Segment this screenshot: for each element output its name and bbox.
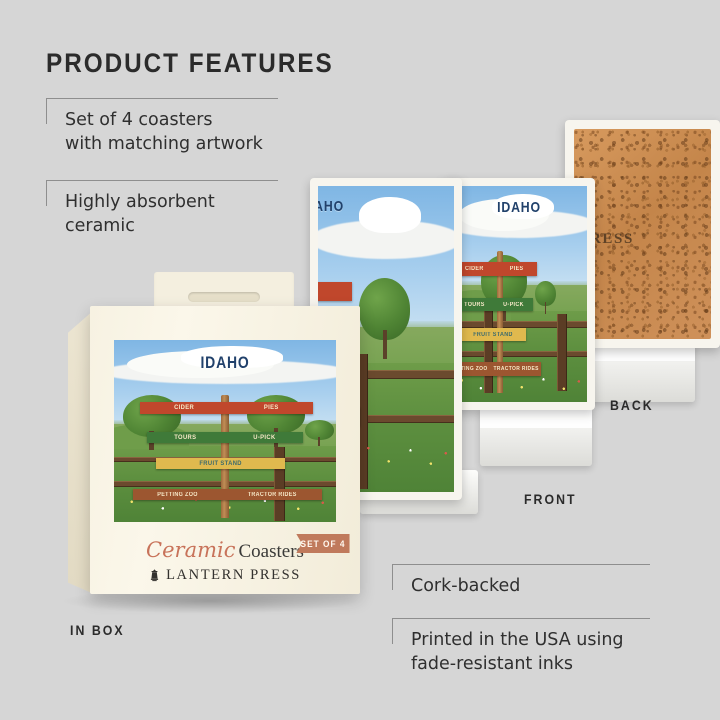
artwork-title: IDAHO bbox=[318, 198, 412, 215]
tree-trunk bbox=[383, 330, 387, 359]
cork-brand-mark: RESS bbox=[590, 231, 634, 248]
sign-label: FRUIT STAND bbox=[473, 332, 513, 338]
sign-label: TRACTOR RIDES bbox=[248, 492, 297, 498]
box-artwork-window: IDAHO CIDER PIES TOURS U-PICK FRUIT STAN bbox=[114, 340, 336, 522]
product-feature-sheet: RESS bbox=[0, 0, 720, 720]
publisher-name: LANTERN PRESS bbox=[166, 567, 301, 584]
sign-label: U-PICK bbox=[253, 434, 275, 441]
sign-label: U-PICK bbox=[503, 302, 524, 308]
feature-text: Set of 4 coasters with matching artwork bbox=[46, 99, 278, 156]
caption-in-box: IN BOX bbox=[70, 622, 125, 638]
sign-label: TRACTOR RIDES bbox=[493, 366, 538, 372]
sign-cider-pies: CIDER PIES bbox=[451, 262, 536, 276]
feature-tick bbox=[392, 618, 393, 644]
brand-roman-word: Coasters bbox=[239, 541, 304, 562]
sign-label: CIDER bbox=[465, 266, 484, 272]
retail-box: IDAHO CIDER PIES TOURS U-PICK FRUIT STAN bbox=[68, 272, 360, 594]
tree-trunk bbox=[318, 437, 320, 446]
sign-petting-tractor: PETTING ZOO TRACTOR RIDES bbox=[133, 489, 322, 501]
tree-trunk-small bbox=[545, 302, 547, 314]
feature-text: Printed in the USA using fade-resistant … bbox=[392, 619, 650, 676]
feature-text: Highly absorbent ceramic bbox=[46, 181, 278, 238]
coaster-front: IDAHO CIDER PIES TOURS U-PICK FRUIT STAN… bbox=[443, 178, 595, 410]
sign-petting-tractor: PETTING ZOO TRACTOR RIDES bbox=[451, 362, 541, 376]
brand-script-word: Ceramic bbox=[146, 538, 238, 562]
sign-tours-upick: TOURS U-PICK bbox=[147, 432, 304, 444]
sign-fruit-stand: FRUIT STAND bbox=[156, 458, 285, 470]
feature-tick bbox=[46, 180, 47, 206]
feature-tick bbox=[392, 564, 393, 590]
feature-text: Cork-backed bbox=[392, 565, 650, 598]
sign-label: TOURS bbox=[175, 434, 197, 441]
artwork-scene: IDAHO CIDER PIES TOURS U-PICK FRUIT STAN… bbox=[451, 186, 587, 402]
artwork-title: IDAHO bbox=[463, 199, 575, 216]
tree-far-right bbox=[305, 420, 334, 445]
sign-label: FRUIT STAND bbox=[199, 460, 242, 467]
sign-fruit-stand: FRUIT STAND bbox=[460, 328, 525, 342]
sign-label: PETTING ZOO bbox=[157, 492, 198, 498]
brand-publisher: LANTERN PRESS bbox=[90, 567, 360, 584]
lantern-icon bbox=[149, 569, 160, 582]
feature-item-cork-backed: Cork-backed bbox=[392, 564, 650, 598]
riser-top-surface-front bbox=[480, 408, 592, 428]
signpost: CIDER PIES TOURS U-PICK FRUIT STAND PETT… bbox=[167, 395, 282, 519]
sign-label: PIES bbox=[510, 266, 524, 272]
hang-slot bbox=[188, 292, 261, 302]
artwork-title: IDAHO bbox=[134, 353, 316, 373]
artwork-scene-box: IDAHO CIDER PIES TOURS U-PICK FRUIT STAN bbox=[114, 340, 336, 522]
caption-back: BACK bbox=[610, 397, 654, 413]
feature-tick bbox=[46, 98, 47, 124]
badge-label: SET OF 4 bbox=[301, 539, 346, 549]
feature-item-absorbent: Highly absorbent ceramic bbox=[46, 180, 278, 238]
sign-label: PIES bbox=[263, 404, 278, 411]
sign-label: TOURS bbox=[464, 302, 485, 308]
feature-item-printed-usa: Printed in the USA using fade-resistant … bbox=[392, 618, 650, 676]
caption-front: FRONT bbox=[524, 491, 577, 507]
tree-small-right bbox=[535, 281, 555, 313]
riser-front bbox=[480, 408, 592, 466]
feature-item-set-of-4: Set of 4 coasters with matching artwork bbox=[46, 98, 278, 156]
page-title: PRODUCT FEATURES bbox=[46, 48, 334, 79]
signpost: CIDER PIES TOURS U-PICK FRUIT STAND PETT… bbox=[462, 251, 538, 394]
sign-cider-pies: CIDER PIES bbox=[140, 402, 313, 414]
coaster-front-artwork: IDAHO CIDER PIES TOURS U-PICK FRUIT STAN… bbox=[451, 186, 587, 402]
tree-main bbox=[359, 278, 411, 358]
box-front-panel: IDAHO CIDER PIES TOURS U-PICK FRUIT STAN bbox=[90, 306, 360, 594]
set-of-4-badge: SET OF 4 bbox=[296, 534, 349, 553]
sign-label: CIDER bbox=[174, 404, 194, 411]
sign-tours-upick: TOURS U-PICK bbox=[454, 298, 533, 312]
